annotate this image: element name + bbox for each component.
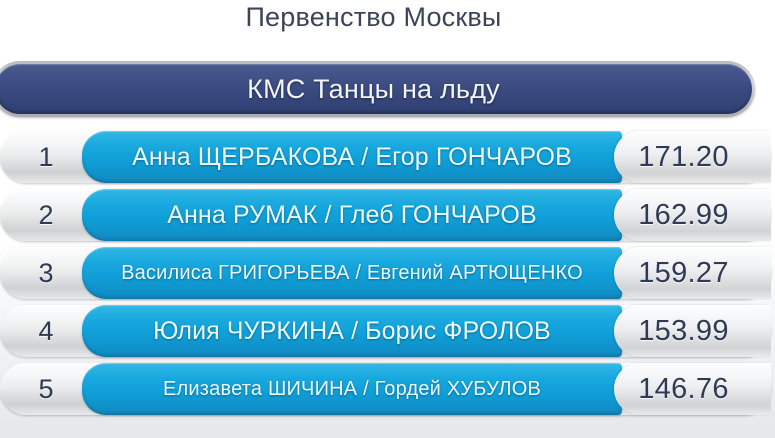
category-bar: КМС Танцы на льду — [0, 61, 755, 117]
table-row[interactable]: 4 Юлия ЧУРКИНА / Борис ФРОЛОВ 153.99 — [0, 303, 761, 361]
competitor-name-panel: Анна РУМАК / Глеб ГОНЧАРОВ — [82, 189, 622, 241]
competitor-names: Юлия ЧУРКИНА / Борис ФРОЛОВ — [139, 317, 565, 346]
scoreboard-screen: Первенство Москвы КМС Танцы на льду 1 Ан… — [0, 0, 775, 438]
category-label: КМС Танцы на льду — [247, 74, 500, 105]
rank-value: 3 — [14, 247, 78, 299]
competitor-name-panel: Юлия ЧУРКИНА / Борис ФРОЛОВ — [82, 305, 622, 357]
rank-value: 2 — [14, 189, 78, 241]
score-value: 146.76 — [638, 373, 747, 406]
score-panel: 153.99 — [614, 305, 771, 357]
competitor-name-panel: Елизавета ШИЧИНА / Гордей ХУБУЛОВ — [82, 363, 622, 415]
competitor-name-panel: Василиса ГРИГОРЬЕВА / Евгений АРТЮЩЕНКО — [82, 247, 622, 299]
competitor-names: Анна ЩЕРБАКОВА / Егор ГОНЧАРОВ — [118, 143, 586, 172]
score-panel: 146.76 — [614, 363, 771, 415]
rank-value: 1 — [14, 131, 78, 183]
competitor-name-panel: Анна ЩЕРБАКОВА / Егор ГОНЧАРОВ — [82, 131, 622, 183]
score-value: 162.99 — [638, 199, 747, 232]
score-value: 159.27 — [638, 257, 747, 290]
table-row[interactable]: 1 Анна ЩЕРБАКОВА / Егор ГОНЧАРОВ 171.20 — [0, 129, 761, 187]
table-row[interactable]: 3 Василиса ГРИГОРЬЕВА / Евгений АРТЮЩЕНК… — [0, 245, 761, 303]
score-panel: 159.27 — [614, 247, 771, 299]
competitor-names: Анна РУМАК / Глеб ГОНЧАРОВ — [153, 201, 550, 230]
competitor-names: Елизавета ШИЧИНА / Гордей ХУБУЛОВ — [149, 378, 555, 401]
score-panel: 162.99 — [614, 189, 771, 241]
rank-value: 5 — [14, 363, 78, 415]
table-row[interactable]: 2 Анна РУМАК / Глеб ГОНЧАРОВ 162.99 — [0, 187, 761, 245]
category-pill: КМС Танцы на льду — [0, 64, 752, 114]
table-row[interactable]: 5 Елизавета ШИЧИНА / Гордей ХУБУЛОВ 146.… — [0, 361, 761, 419]
results-list: 1 Анна ЩЕРБАКОВА / Егор ГОНЧАРОВ 171.20 … — [0, 129, 761, 419]
score-value: 171.20 — [638, 141, 747, 174]
page-title: Первенство Москвы — [0, 2, 761, 33]
rank-value: 4 — [14, 305, 78, 357]
competitor-names: Василиса ГРИГОРЬЕВА / Евгений АРТЮЩЕНКО — [107, 262, 597, 285]
scoreboard-card: Первенство Москвы КМС Танцы на льду 1 Ан… — [0, 0, 775, 438]
score-value: 153.99 — [638, 315, 747, 348]
score-panel: 171.20 — [614, 131, 771, 183]
